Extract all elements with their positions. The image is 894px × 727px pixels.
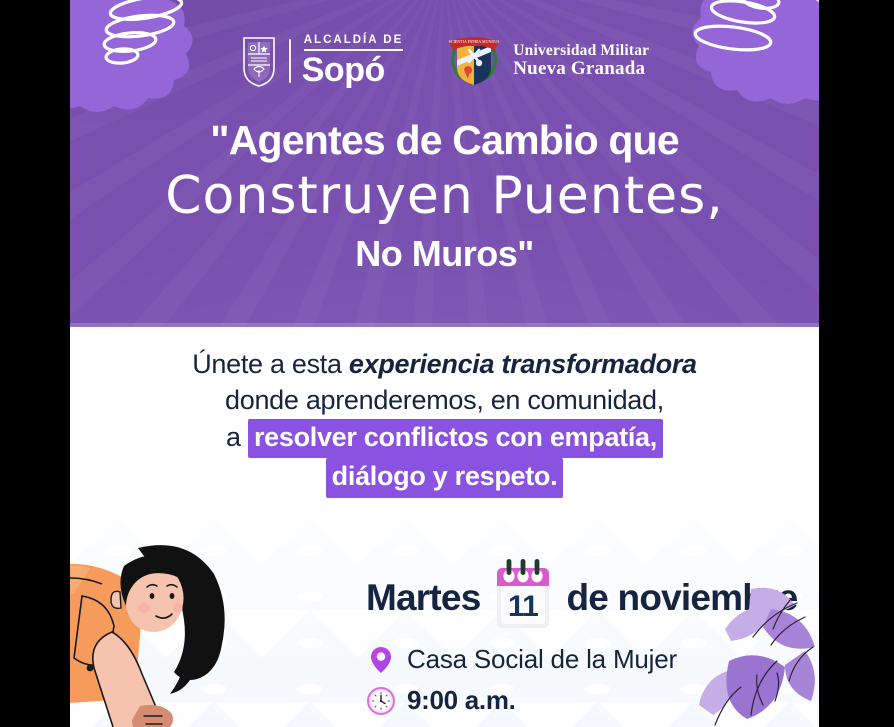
headline-line-3: No Muros" (70, 233, 819, 275)
umng-line2: Nueva Granada (513, 59, 649, 78)
umng-line1: Universidad Militar (513, 43, 649, 59)
letterbox-bar-right (819, 0, 894, 727)
umng-logo: SCIENTIA PATRIA MUNDUS Universidad Milit… (445, 30, 649, 92)
body-line-3-highlight: resolver conflictos con empatía, (248, 419, 663, 459)
event-time-text: 9:00 a.m. (407, 685, 516, 716)
svg-text:11: 11 (508, 590, 538, 623)
umng-crest-icon: SCIENTIA PATRIA MUNDUS (445, 30, 503, 92)
headline-block: "Agentes de Cambio que Construyen Puente… (70, 118, 819, 275)
calendar-icon: 11 (492, 556, 554, 634)
location-pin-icon (366, 645, 396, 675)
sopo-coat-of-arms-icon (240, 34, 278, 88)
headline-line-1-main: "Agentes de Cambio (210, 117, 598, 163)
alcaldia-sopo-logo: ALCALDÍA DE Sopó (240, 34, 404, 88)
body-line-4-highlight: diálogo y respeto. (326, 458, 564, 498)
hero-section: ALCALDÍA DE Sopó (70, 0, 819, 327)
headline-line-1-tail: que (598, 117, 679, 163)
body-line-3: a resolver conflictos con empatía, (226, 419, 663, 459)
sopo-wordmark: ALCALDÍA DE Sopó (302, 35, 404, 87)
logo-divider (289, 39, 291, 83)
body-line-2: donde aprenderemos, en comunidad, (225, 383, 664, 419)
body-line-1-prefix: Únete a esta (192, 349, 349, 379)
event-location-text: Casa Social de la Mujer (407, 644, 677, 675)
headline-line-2: Construyen Puentes, (70, 167, 819, 227)
body-line-3-prefix: a (226, 422, 248, 452)
clock-icon (366, 686, 396, 716)
sopo-name: Sopó (302, 53, 404, 87)
poster-stage: ALCALDÍA DE Sopó (0, 0, 894, 727)
body-line-4: diálogo y respeto. (326, 458, 564, 498)
logos-row: ALCALDÍA DE Sopó (70, 30, 819, 92)
svg-text:SCIENTIA PATRIA MUNDUS: SCIENTIA PATRIA MUNDUS (449, 39, 500, 44)
body-line-1-emphasis: experiencia transformadora (349, 349, 697, 379)
body-text-section: Únete a esta experiencia transformadora … (70, 327, 819, 518)
headline-line-1: "Agentes de Cambio que (70, 118, 819, 163)
umng-wordmark: Universidad Militar Nueva Granada (513, 43, 649, 78)
poster-canvas: ALCALDÍA DE Sopó (70, 0, 819, 727)
foliage-illustration (655, 555, 819, 727)
event-day-name: Martes (366, 577, 480, 619)
letterbox-bar-left (0, 0, 70, 727)
alcaldia-kicker: ALCALDÍA DE (304, 35, 404, 51)
woman-illustration (70, 540, 318, 727)
body-line-1: Únete a esta experiencia transformadora (192, 347, 697, 383)
